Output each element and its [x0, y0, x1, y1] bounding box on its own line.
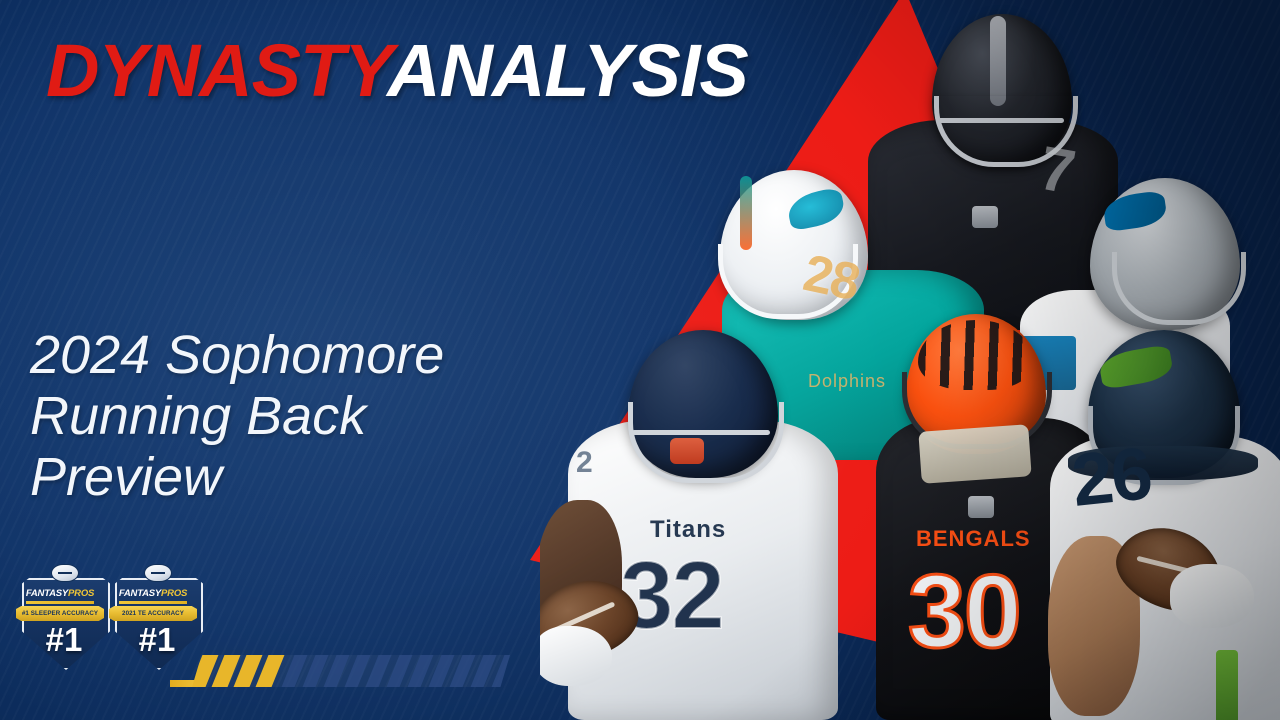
titans-mouthguard	[670, 438, 704, 464]
title-dynasty: DYNASTY	[46, 29, 387, 112]
title-analysis: ANALYSIS	[387, 29, 748, 112]
speed-bar-stripes	[192, 655, 510, 687]
titans-jersey-number: 32	[620, 548, 723, 644]
fantasypros-wordmark: FANTASYPROS	[114, 586, 192, 601]
subtitle-line-2: Running Back	[30, 386, 550, 447]
subtitle: 2024 Sophomore Running Back Preview	[30, 325, 550, 508]
badge-rank: #1	[111, 618, 203, 662]
player-seahawks: 26	[1040, 320, 1280, 720]
titans-shoulder-number: 2	[576, 446, 620, 480]
bengals-jersey-number: 30	[908, 560, 1020, 664]
page-title: DYNASTYANALYSIS	[46, 34, 748, 108]
award-badges: FANTASYPROS #1 SLEEPER ACCURACY #1 FANTA…	[14, 556, 214, 674]
badge-ribbon-text: #1 SLEEPER ACCURACY	[22, 610, 98, 617]
speed-bar-track	[192, 655, 510, 687]
titans-facemask-bar	[632, 430, 770, 435]
badge-rank: #1	[18, 618, 110, 662]
football-icon	[51, 564, 79, 582]
badge-ribbon: #1 SLEEPER ACCURACY	[16, 606, 104, 621]
brand-fantasy: FANTASY	[119, 588, 161, 599]
brand-fantasy: FANTASY	[26, 588, 68, 599]
bengals-towel	[918, 424, 1031, 484]
badge-ribbon-text: 2021 TE ACCURACY	[122, 610, 184, 617]
badge-sleeper-accuracy: FANTASYPROS #1 SLEEPER ACCURACY #1	[18, 562, 110, 670]
bengals-wordmark: BENGALS	[916, 528, 1031, 550]
bengals-nfl-patch	[968, 496, 994, 518]
brand-pros: PROS	[68, 588, 94, 599]
badge-ribbon: 2021 TE ACCURACY	[109, 606, 197, 621]
thumbnail-canvas: 7 28 Dolphins 32	[0, 0, 1280, 720]
badge-divider	[119, 601, 187, 604]
fantasypros-wordmark: FANTASYPROS	[21, 586, 99, 601]
falcons-helmet-stripe	[990, 16, 1006, 106]
titans-wordmark: Titans	[650, 518, 726, 542]
dolphins-jersey-number: 28	[799, 247, 862, 309]
badge-divider	[26, 601, 94, 604]
titans-glove	[540, 626, 612, 686]
player-titans: 32 Titans 2	[540, 320, 870, 720]
accent-speed-bar	[170, 655, 510, 687]
badge-te-accuracy: FANTASYPROS 2021 TE ACCURACY #1	[111, 562, 203, 670]
seahawks-leg-stripe	[1216, 650, 1238, 720]
football-icon	[144, 564, 172, 582]
dolphins-helmet-stripe	[740, 176, 752, 250]
seahawks-jersey-number: 26	[1068, 436, 1154, 518]
falcons-facemask-bar	[938, 118, 1064, 123]
brand-pros: PROS	[161, 588, 187, 599]
seahawks-glove	[1170, 564, 1254, 628]
subtitle-line-1: 2024 Sophomore	[30, 325, 550, 386]
subtitle-line-3: Preview	[30, 447, 550, 508]
